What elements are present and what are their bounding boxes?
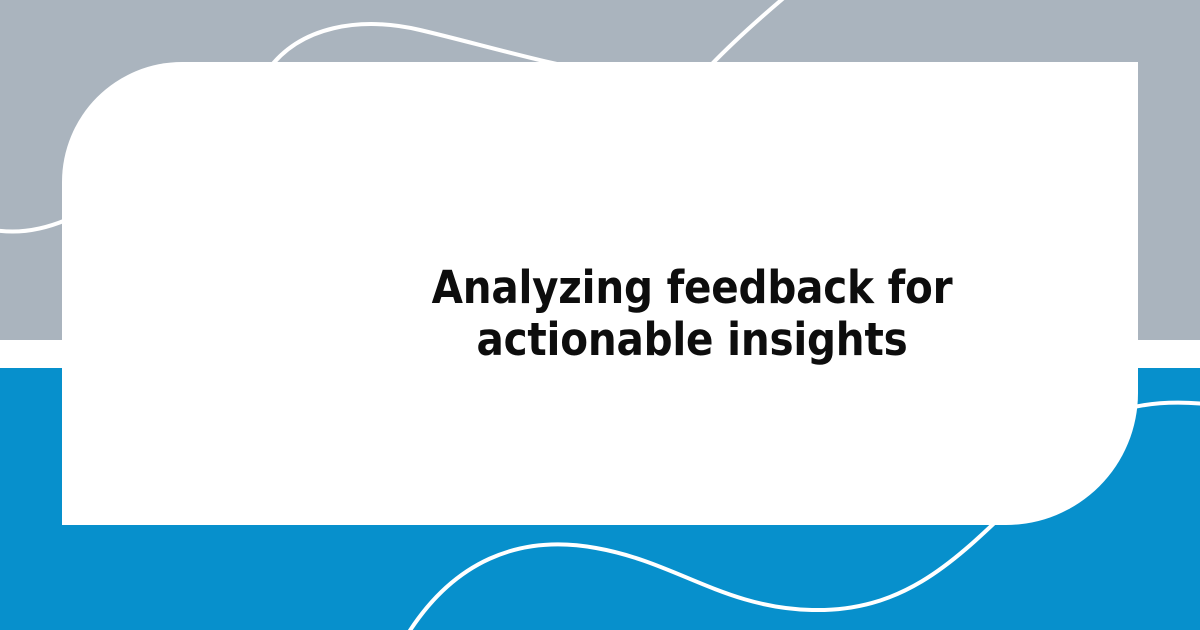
title-block: Analyzing feedback for actionable insigh… [342,262,1042,366]
page-title: Analyzing feedback for actionable insigh… [342,262,1042,366]
banner-image: Analyzing feedback for actionable insigh… [0,0,1200,630]
